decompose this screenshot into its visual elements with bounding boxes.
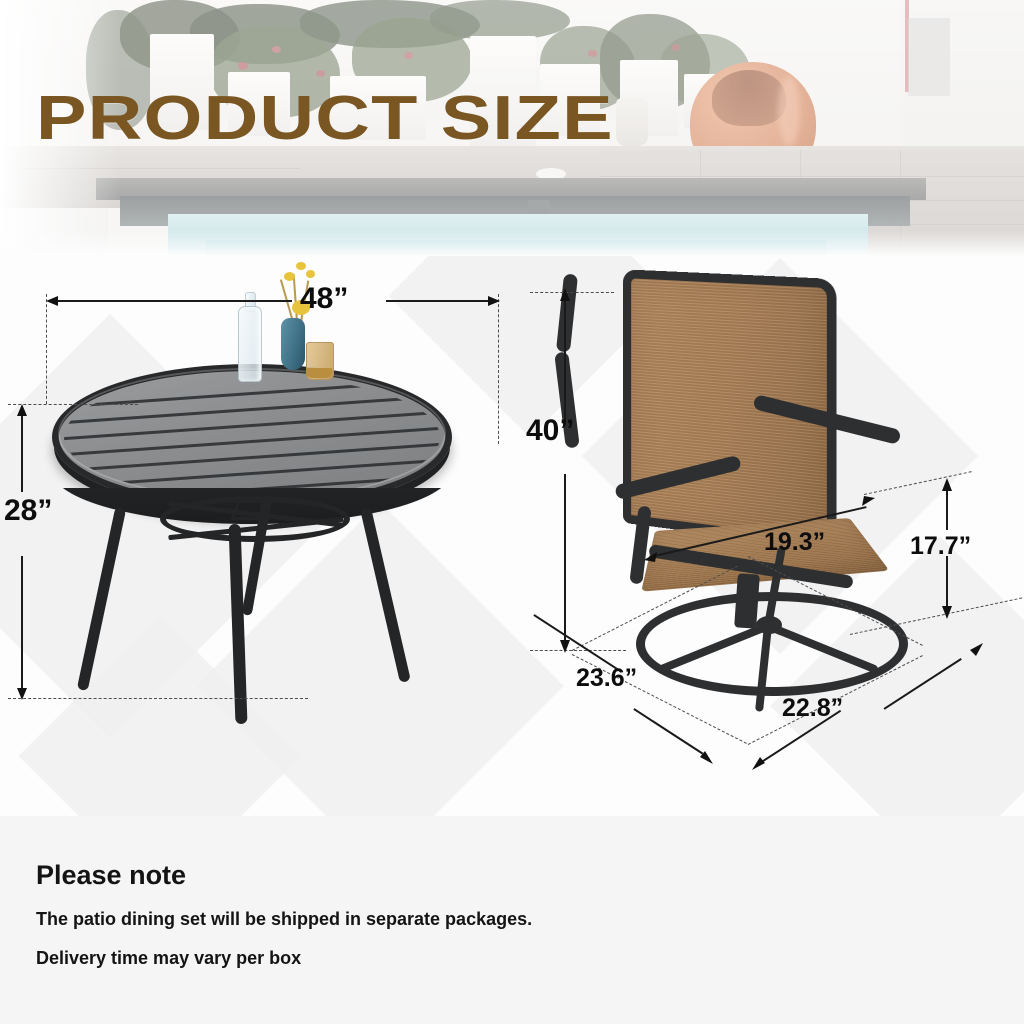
chair-seat-depth-label: 19.3” — [764, 528, 825, 557]
chair-depth-label: 23.6” — [576, 664, 637, 693]
table-dimension-panel: 48” 28” — [0, 256, 512, 816]
chair-height-line-b — [564, 474, 566, 640]
note-line-2: Delivery time may vary per box — [36, 948, 301, 969]
table-width-line-b — [386, 300, 492, 302]
table-width-label: 48” — [300, 282, 348, 316]
flower-vase — [281, 318, 305, 370]
chair-seat-height-arrow-bottom — [939, 604, 955, 620]
chair-depth-arrow — [698, 750, 714, 766]
chair-height-arrow-top — [557, 288, 573, 304]
chair-height-line-a — [564, 300, 566, 424]
note-heading: Please note — [36, 860, 186, 891]
product-size-infographic: PRODUCT SIZE — [0, 0, 1024, 1024]
swivel-chair-illustration — [560, 274, 980, 694]
table-height-line-a — [21, 410, 23, 492]
chair-width-arrow-right — [968, 642, 984, 658]
chair-width-label: 22.8” — [782, 694, 843, 723]
chair-seat-height-label: 17.7” — [910, 532, 971, 561]
table-height-ext-bottom — [8, 698, 308, 699]
page-title: PRODUCT SIZE — [36, 88, 614, 150]
chair-height-ext-bottom — [530, 650, 626, 651]
table-height-arrow-bottom — [14, 686, 30, 702]
table-width-arrow-left — [46, 293, 62, 309]
chair-height-label: 40” — [526, 414, 574, 448]
water-bottle — [238, 306, 262, 382]
chair-width-arrow-left — [752, 756, 768, 772]
table-height-arrow-top — [14, 404, 30, 420]
table-width-ext-right — [498, 294, 499, 444]
table-width-arrow-right — [486, 293, 502, 309]
chair-seat-depth-arrow-left — [644, 548, 660, 564]
table-width-ext-left — [46, 294, 47, 404]
chair-dimension-panel: 40” 19.3” 17.7” — [512, 256, 1024, 816]
table-width-line-a — [54, 300, 292, 302]
table-height-label: 28” — [4, 494, 52, 528]
note-line-1: The patio dining set will be shipped in … — [36, 909, 532, 930]
dimension-diagram-area: 48” 28” — [0, 256, 1024, 816]
chair-height-arrow-bottom — [557, 638, 573, 654]
hero-banner: PRODUCT SIZE — [0, 0, 1024, 256]
chair-seat-height-arrow-top — [939, 478, 955, 494]
table-height-line-b — [21, 556, 23, 692]
chair-seat-depth-arrow-right — [860, 496, 876, 512]
note-section: Please note The patio dining set will be… — [0, 816, 1024, 1024]
